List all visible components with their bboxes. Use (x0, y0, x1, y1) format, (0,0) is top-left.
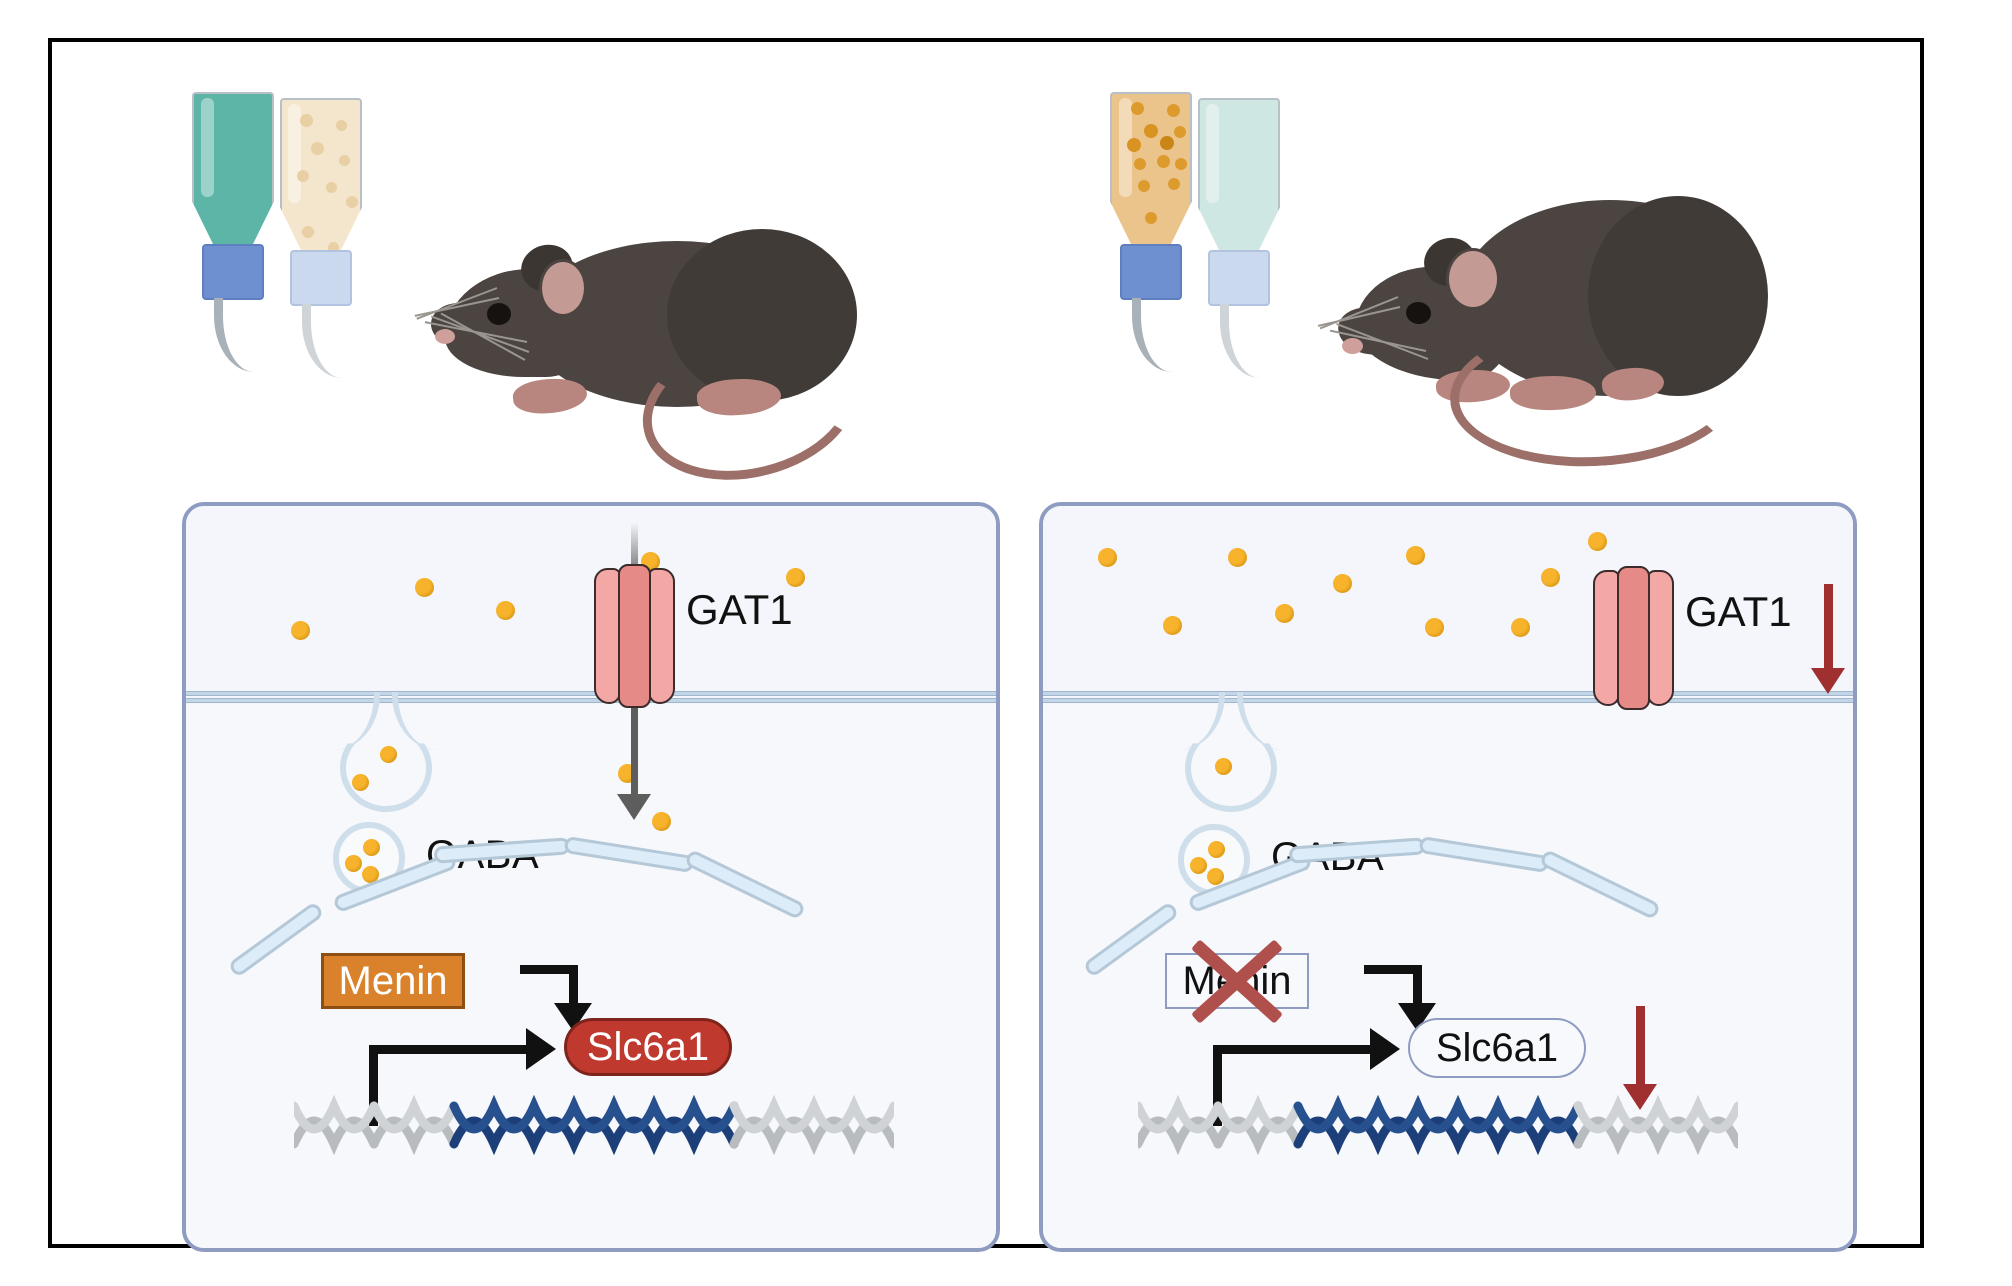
panel-control: GABA GAT1 Menin (52, 42, 990, 1244)
regulatory-arrow-hook (1413, 965, 1422, 1007)
gaba-molecule (380, 746, 397, 763)
gaba-molecule (1333, 574, 1352, 593)
gaba-uptake-flow (631, 698, 638, 800)
menin-knockout-x-icon (1175, 943, 1299, 1019)
bottle-pair-left (192, 92, 422, 352)
gaba-molecule (415, 578, 434, 597)
gaba-molecule (1190, 857, 1207, 874)
gat1-transporter (1593, 566, 1673, 710)
gat1-label: GAT1 (686, 586, 793, 634)
gaba-molecule (1098, 548, 1117, 567)
gaba-molecule (291, 621, 310, 640)
slc6a1-label: Slc6a1 (587, 1025, 709, 1070)
transcription-arrow-stem (1213, 1045, 1373, 1054)
figure-frame: GABA GAT1 Menin (48, 38, 1924, 1248)
gaba-molecule (1228, 548, 1247, 567)
mouse-hunched-posture (1320, 192, 1790, 442)
panel-menin-knockout: GABA GAT1 Menin (990, 42, 1928, 1244)
gaba-molecule (1588, 532, 1607, 551)
vesicle-fusion-pore (1171, 692, 1291, 807)
bottle-cap-blue (202, 244, 264, 300)
gat1-label: GAT1 (1685, 588, 1792, 636)
transcription-arrow-stem (369, 1045, 529, 1054)
plasma-membrane (186, 691, 996, 705)
bottle-cap-blue (1120, 244, 1182, 300)
mouse-normal-posture (417, 217, 887, 447)
bottle-spout (1220, 304, 1266, 378)
gaba-molecule (1163, 616, 1182, 635)
transcription-arrowhead (1370, 1028, 1400, 1070)
gaba-molecule (1215, 758, 1232, 775)
bottle-spout (302, 304, 348, 378)
gat1-transporter (594, 564, 674, 708)
gaba-molecule (1406, 546, 1425, 565)
cell-diagram-knockout: GABA GAT1 Menin (1039, 502, 1857, 1252)
slc6a1-label: Slc6a1 (1436, 1026, 1558, 1071)
gaba-molecule (652, 812, 671, 831)
bottle-spout (1132, 298, 1178, 372)
slc6a1-gene-product[interactable]: Slc6a1 (1408, 1018, 1586, 1078)
regulatory-arrow-hook (569, 965, 578, 1007)
dna-double-helix (294, 1092, 894, 1160)
slc6a1-gene-product[interactable]: Slc6a1 (564, 1018, 732, 1076)
gaba-molecule (352, 774, 369, 791)
bottle-cap-light (290, 250, 352, 306)
bottle-cap-light (1208, 250, 1270, 306)
gaba-uptake-arrowhead (617, 794, 651, 820)
cell-diagram-control: GABA GAT1 Menin (182, 502, 1000, 1252)
bottle-spout (214, 298, 260, 372)
menin-protein-box[interactable]: Menin (321, 953, 465, 1009)
gaba-molecule (363, 839, 380, 856)
transcription-arrowhead (526, 1028, 556, 1070)
dna-double-helix (1138, 1092, 1738, 1160)
gaba-molecule (1511, 618, 1530, 637)
vesicle-fusion-pore (326, 692, 446, 807)
plasma-membrane (1043, 691, 1853, 705)
gaba-molecule (1541, 568, 1560, 587)
menin-label: Menin (339, 959, 448, 1004)
gaba-molecule (1208, 841, 1225, 858)
gat1-decrease-arrow (1811, 584, 1845, 696)
gaba-molecule (1275, 604, 1294, 623)
figure-canvas: GABA GAT1 Menin (0, 0, 2012, 1286)
bottle-pair-right (1110, 92, 1340, 352)
gaba-molecule (1425, 618, 1444, 637)
gaba-molecule (786, 568, 805, 587)
gaba-molecule (496, 601, 515, 620)
gaba-molecule (345, 855, 362, 872)
gaba-molecule (1207, 868, 1224, 885)
